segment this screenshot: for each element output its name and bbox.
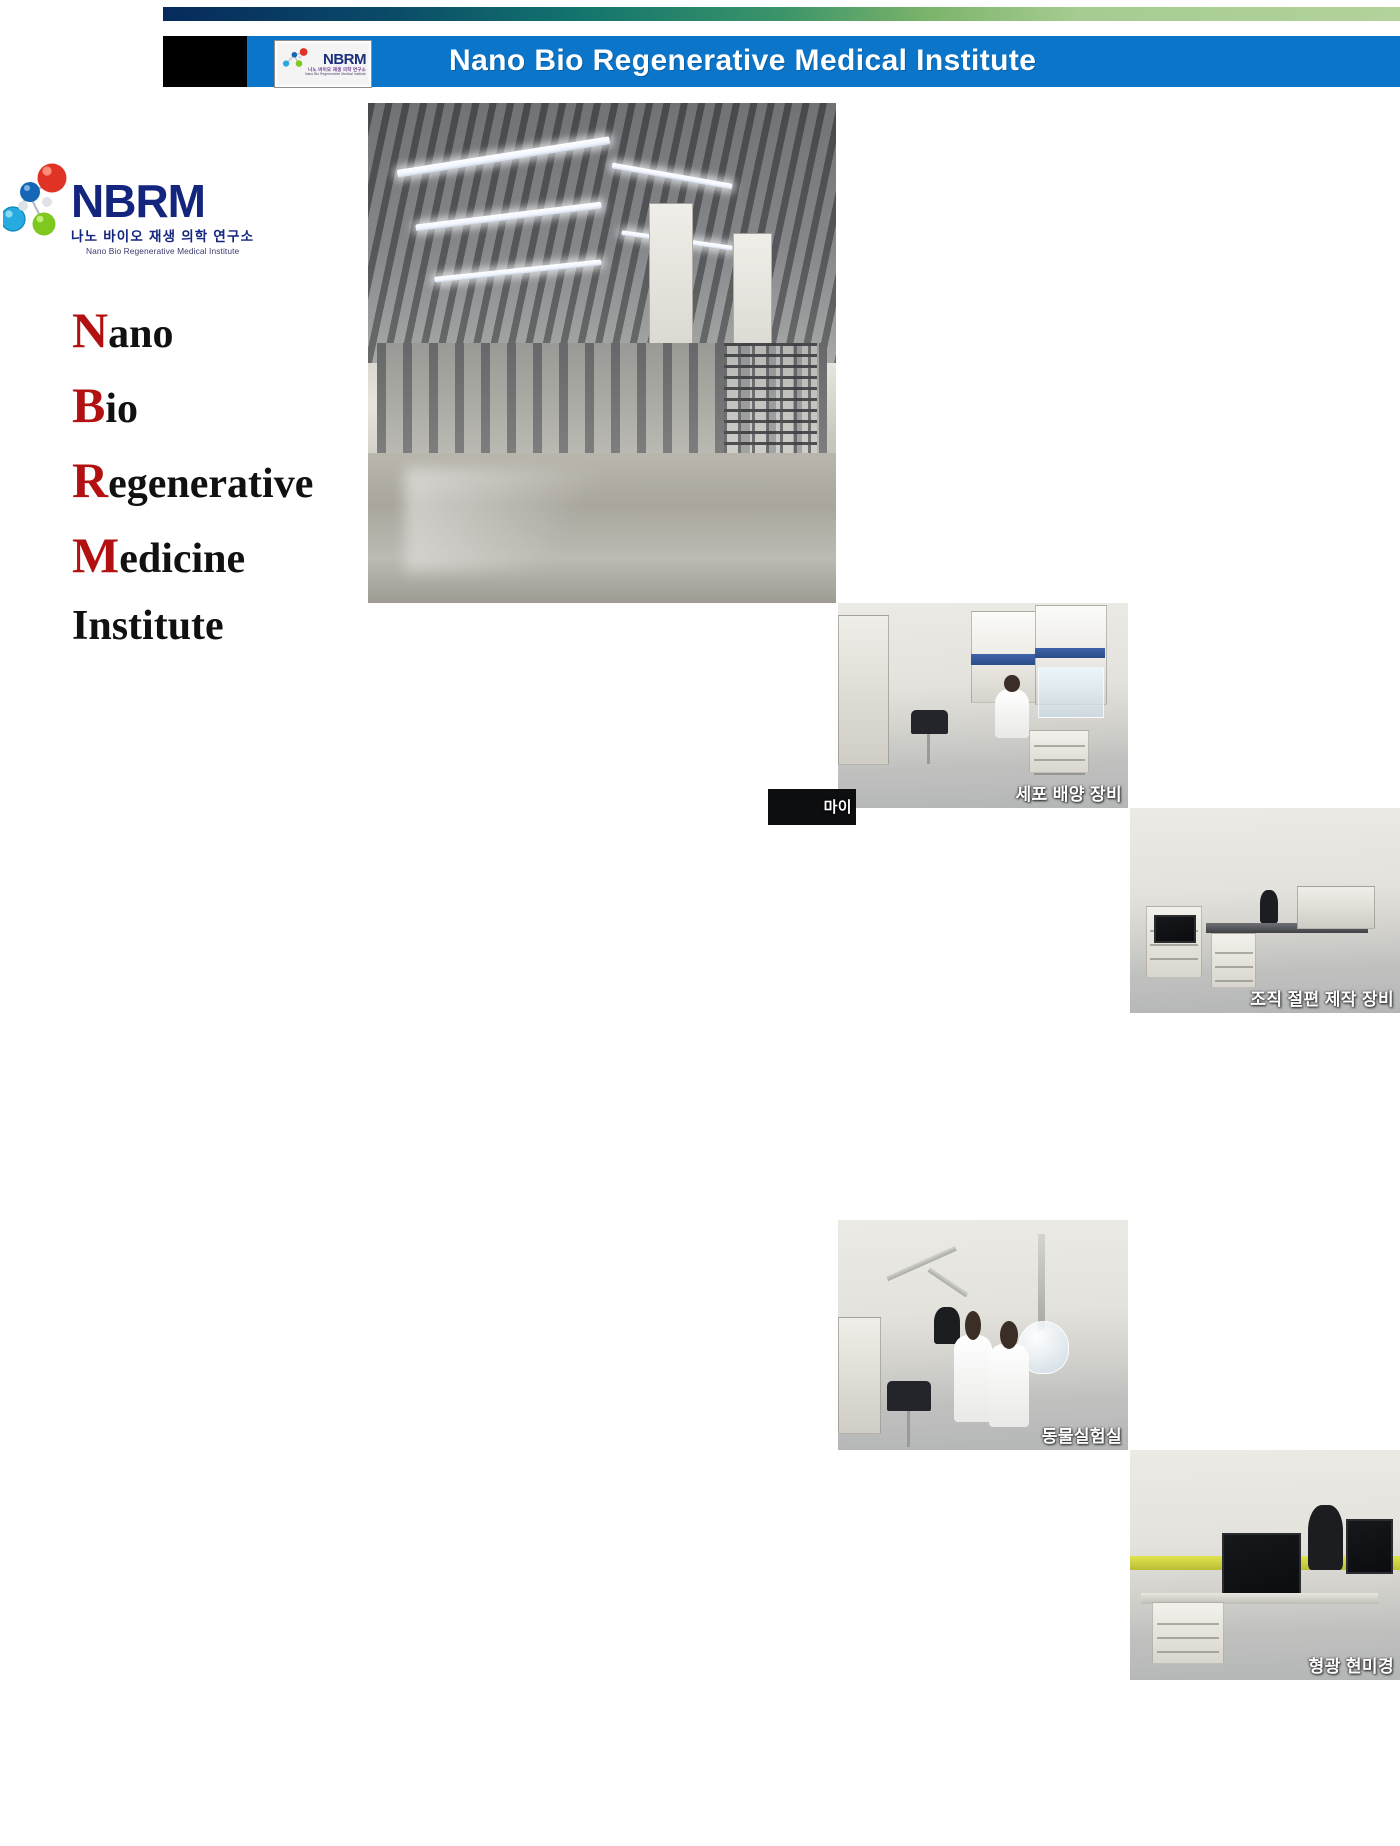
acronym-item-medicine: Medicine bbox=[72, 530, 372, 580]
hood-glass bbox=[1038, 667, 1104, 718]
microtome bbox=[1260, 890, 1279, 923]
acronym-rest: edicine bbox=[119, 536, 245, 582]
researcher bbox=[954, 1335, 992, 1422]
caption-micro-partial: 마이 bbox=[824, 796, 852, 817]
surgical-arm bbox=[928, 1267, 969, 1297]
header-logo-english: Nano Bio Regenerative Medical Institute bbox=[305, 73, 366, 76]
acronym-item-bio: Bio bbox=[72, 380, 372, 430]
acronym-item-institute: Institute bbox=[72, 605, 372, 647]
computer-monitor bbox=[1222, 1533, 1302, 1597]
floor bbox=[368, 453, 836, 603]
surgical-arm bbox=[887, 1246, 958, 1281]
surgical-microscope bbox=[934, 1307, 960, 1344]
drawer-unit bbox=[1029, 730, 1089, 773]
photo-fluorescence-microscope: 형광 현미경 bbox=[1130, 1450, 1400, 1680]
sidebar-logo: NBRM 나노 바이오 재생 의학 연구소 Nano Bio Regenerat… bbox=[3, 140, 323, 260]
acronym-list: Nano Bio Regenerative Medicine Institute bbox=[72, 305, 372, 672]
photo-tissue-section: 조직 절편 제작 장비 bbox=[1130, 808, 1400, 1013]
acronym-cap: R bbox=[72, 452, 108, 508]
camera-body bbox=[1346, 1519, 1393, 1574]
sidebar-logo-brand: NBRM bbox=[71, 178, 254, 224]
hood-blue-strip bbox=[1035, 648, 1105, 658]
pole bbox=[1038, 1234, 1045, 1331]
photo-micro-label-plate: 마이 bbox=[768, 789, 856, 825]
hood-blue-strip bbox=[971, 654, 1035, 664]
drawer-unit bbox=[1211, 933, 1256, 988]
sidebar-logo-wordmark: NBRM 나노 바이오 재생 의학 연구소 Nano Bio Regenerat… bbox=[71, 178, 254, 256]
molecule-icon bbox=[3, 140, 75, 250]
sidebar-logo-english: Nano Bio Regenerative Medical Institute bbox=[71, 246, 254, 256]
researcher bbox=[989, 1344, 1030, 1427]
drawer-unit bbox=[1152, 1602, 1224, 1664]
bench-shelf bbox=[1297, 886, 1375, 929]
page-title: Nano Bio Regenerative Medical Institute bbox=[449, 44, 1036, 84]
molecule-icon bbox=[280, 46, 318, 70]
caption-tissue-section: 조직 절편 제작 장비 bbox=[1250, 985, 1394, 1010]
acronym-rest: io bbox=[105, 386, 138, 432]
sidebar-logo-korean: 나노 바이오 재생 의학 연구소 bbox=[71, 225, 254, 245]
instrument-display bbox=[1154, 915, 1196, 944]
photo-animal-lab: 동물실험실 bbox=[838, 1220, 1128, 1450]
fluorescence-microscope bbox=[1308, 1505, 1343, 1569]
photo-collage: 세포 배양 장비 조직 절편 제작 장비 동물실험실 bbox=[368, 103, 1400, 913]
acronym-item-nano: Nano bbox=[72, 305, 372, 355]
lab-stool bbox=[887, 1381, 931, 1411]
header-gradient-bar bbox=[163, 7, 1400, 21]
acronym-item-regenerative: Regenerative bbox=[72, 455, 372, 505]
photo-cell-culture: 세포 배양 장비 bbox=[838, 603, 1128, 808]
researcher bbox=[995, 689, 1030, 738]
slide-root: NBRM 나노 바이오 재생 의학 연구소 Nano Bio Regenerat… bbox=[0, 0, 1400, 923]
lab-stool bbox=[911, 710, 949, 735]
caption-animal-lab: 동물실험실 bbox=[1042, 1422, 1122, 1447]
acronym-rest: ano bbox=[108, 311, 173, 357]
photo-lab-overview bbox=[368, 103, 836, 603]
header-logo: NBRM 나노 바이오 재생 의학 연구소 Nano Bio Regenerat… bbox=[275, 41, 371, 87]
acronym-cap: M bbox=[72, 527, 119, 583]
header-black-block bbox=[163, 36, 247, 87]
cabinet bbox=[838, 615, 889, 765]
acronym-cap: B bbox=[72, 377, 105, 433]
acronym-cap: N bbox=[72, 302, 108, 358]
caption-fluorescence-microscope: 형광 현미경 bbox=[1309, 1652, 1394, 1677]
acronym-rest: egenerative bbox=[108, 461, 313, 507]
caption-cell-culture: 세포 배양 장비 bbox=[1016, 780, 1123, 805]
cabinet bbox=[838, 1317, 881, 1434]
